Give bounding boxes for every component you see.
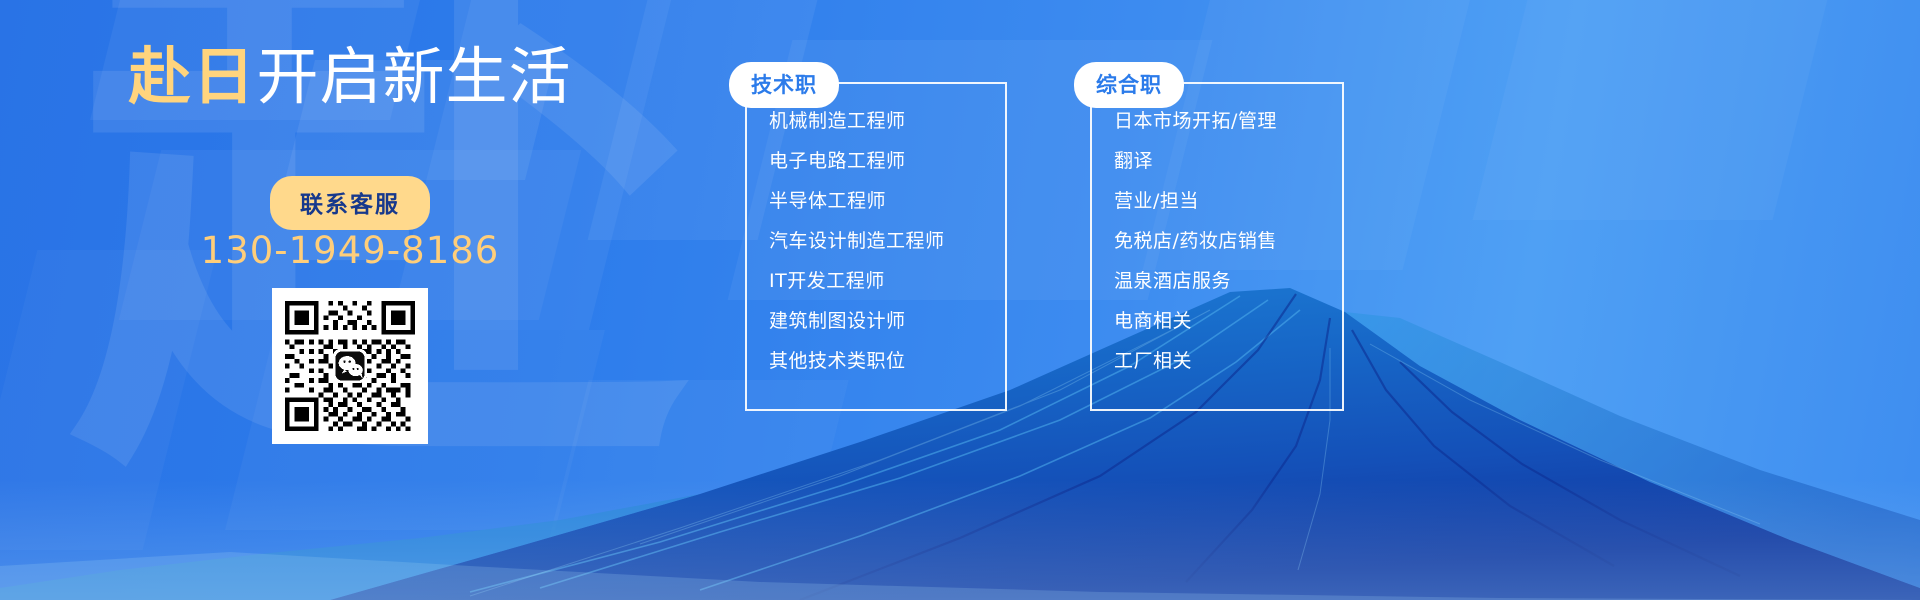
list-item[interactable]: 营业/担当 — [1114, 192, 1338, 211]
job-category-general: 综合职 日本市场开拓/管理 翻译 营业/担当 免税店/药妆店销售 温泉酒店服务 … — [1090, 82, 1344, 411]
list-item[interactable]: 翻译 — [1114, 152, 1338, 171]
list-item[interactable]: 汽车设计制造工程师 — [769, 232, 1001, 251]
page-title: 赴日开启新生活 — [0, 46, 700, 108]
job-list-general: 日本市场开拓/管理 翻译 营业/担当 免税店/药妆店销售 温泉酒店服务 电商相关… — [1114, 112, 1338, 371]
list-item[interactable]: 工厂相关 — [1114, 352, 1338, 371]
job-category-technical: 技术职 机械制造工程师 电子电路工程师 半导体工程师 汽车设计制造工程师 IT开… — [745, 82, 1007, 411]
list-item[interactable]: 其他技术类职位 — [769, 352, 1001, 371]
left-content-column: 赴日开启新生活 联系客服 130-1949-8186 — [0, 0, 700, 600]
badge-technical[interactable]: 技术职 — [729, 62, 839, 108]
phone-number: 130-1949-8186 — [201, 229, 500, 272]
list-item[interactable]: 日本市场开拓/管理 — [1114, 112, 1338, 131]
job-list-technical: 机械制造工程师 电子电路工程师 半导体工程师 汽车设计制造工程师 IT开发工程师… — [769, 112, 1001, 371]
list-item[interactable]: 免税店/药妆店销售 — [1114, 232, 1338, 251]
wechat-logo-icon — [333, 349, 367, 383]
list-item[interactable]: 半导体工程师 — [769, 192, 1001, 211]
list-item[interactable]: 电商相关 — [1114, 312, 1338, 331]
list-item[interactable]: IT开发工程师 — [769, 272, 1001, 291]
headline-accent: 赴日 — [128, 40, 256, 113]
decorative-stripe — [1473, 0, 1828, 220]
list-item[interactable]: 建筑制图设计师 — [769, 312, 1001, 331]
wechat-qr-code[interactable] — [272, 288, 428, 444]
list-item[interactable]: 电子电路工程师 — [769, 152, 1001, 171]
badge-general[interactable]: 综合职 — [1074, 62, 1184, 108]
promo-banner: 赴 — [0, 0, 1920, 600]
headline-rest: 开启新生活 — [257, 40, 572, 113]
list-item[interactable]: 机械制造工程师 — [769, 112, 1001, 131]
contact-support-button[interactable]: 联系客服 — [270, 176, 430, 230]
list-item[interactable]: 温泉酒店服务 — [1114, 272, 1338, 291]
